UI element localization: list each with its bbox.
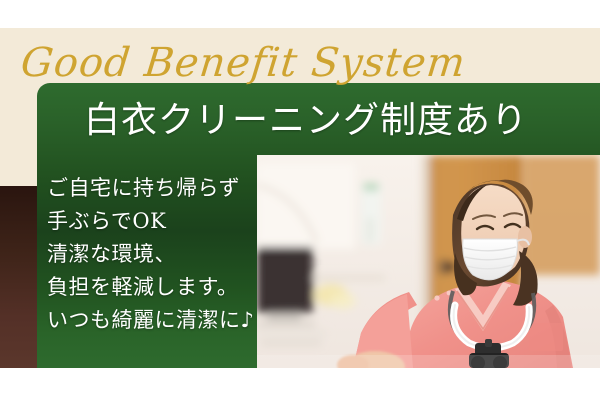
body-copy-block: ご自宅に持ち帰らず 手ぶらでOK 清潔な環境、 負担を軽減します。 いつも綺麗に… [47,172,262,337]
bottom-white-margin [0,368,600,400]
staff-photo-illustration [257,155,600,368]
top-white-margin [0,0,600,28]
main-headline: 白衣クリーニング制度あり [84,99,528,143]
promo-banner: 白衣クリーニング制度あり ご自宅に持ち帰らず 手ぶらでOK 清潔な環境、 負担を… [0,0,600,400]
body-line: ご自宅に持ち帰らず [47,172,262,205]
staff-photo [257,155,600,368]
body-line: いつも綺麗に清潔に♪ [47,304,262,337]
body-line: 清潔な環境、 [47,238,262,271]
body-line: 負担を軽減します。 [47,271,262,304]
body-line: 手ぶらでOK [47,205,262,238]
